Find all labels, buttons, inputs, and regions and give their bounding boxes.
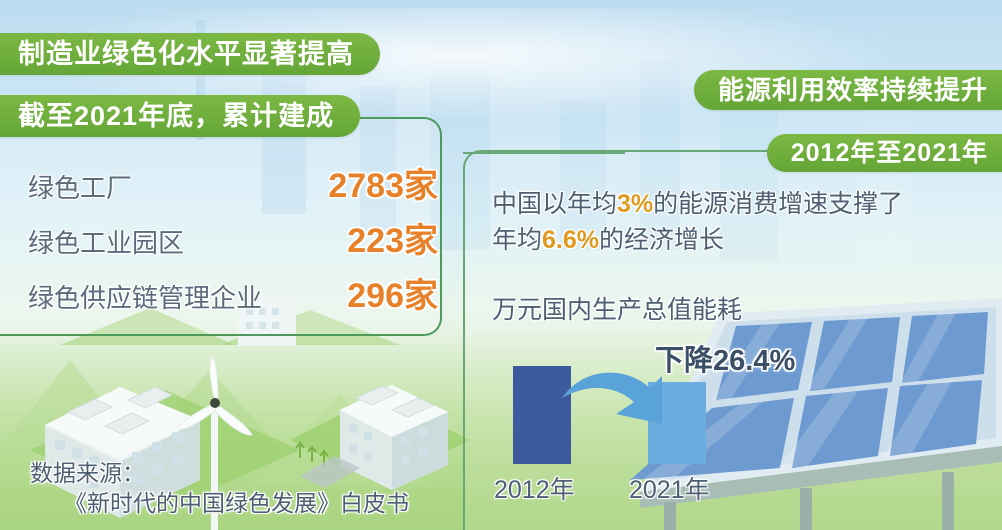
banner-sub-title-text: 截至2021年底，累计建成	[18, 103, 334, 130]
connector-line	[463, 152, 625, 154]
green-manufacturing-stats-list: 绿色工厂 2783家 绿色工业园区 223家 绿色供应链管理企业 296家	[28, 158, 438, 323]
energy-efficiency-statement: 中国以年均3%的能源消费增速支撑了 年均6.6%的经济增长	[492, 186, 942, 258]
statement-part-1: 中国以年均	[492, 190, 617, 218]
statement-part-2: 的能源消费增速支撑了	[653, 190, 903, 218]
source-note: 数据来源： 《新时代的中国绿色发展》白皮书	[30, 458, 430, 518]
bar-label-2021: 2021年	[629, 470, 710, 506]
banner-years-badge-text: 2012年至2021年	[791, 141, 988, 166]
stat-value: 223家	[347, 213, 438, 262]
statement-highlight-gdp: 6.6%	[542, 226, 599, 254]
banner-right-title-text: 能源利用效率持续提升	[718, 77, 988, 103]
stat-label: 绿色工业园区	[28, 223, 184, 260]
banner-right-title: 能源利用效率持续提升	[694, 70, 1002, 110]
banner-main-title: 制造业绿色化水平显著提高	[0, 33, 380, 75]
list-item: 绿色工业园区 223家	[28, 213, 438, 262]
infographic-canvas: 制造业绿色化水平显著提高 截至2021年底，累计建成 能源利用效率持续提升 20…	[0, 0, 1002, 530]
list-item: 绿色工厂 2783家	[28, 158, 438, 207]
statement-part-3: 年均	[492, 226, 542, 254]
stat-label: 绿色供应链管理企业	[28, 278, 262, 315]
statement-highlight-energy: 3%	[617, 190, 653, 218]
source-line-2: 《新时代的中国绿色发展》白皮书	[30, 488, 430, 518]
list-item: 绿色供应链管理企业 296家	[28, 268, 438, 317]
banner-sub-title: 截至2021年底，累计建成	[0, 95, 360, 137]
chart-annotation-decline: 下降26.4%	[655, 337, 795, 379]
source-line-1: 数据来源：	[30, 458, 430, 488]
chart-title: 万元国内生产总值能耗	[492, 290, 742, 326]
decline-arrow-icon	[558, 368, 674, 440]
stat-label: 绿色工厂	[28, 168, 132, 205]
stat-value: 296家	[347, 268, 438, 317]
stat-value: 2783家	[328, 158, 438, 207]
banner-years-badge: 2012年至2021年	[767, 134, 1002, 172]
bar-label-2012: 2012年	[494, 470, 575, 506]
statement-part-4: 的经济增长	[599, 226, 724, 254]
banner-main-title-text: 制造业绿色化水平显著提高	[18, 41, 354, 68]
